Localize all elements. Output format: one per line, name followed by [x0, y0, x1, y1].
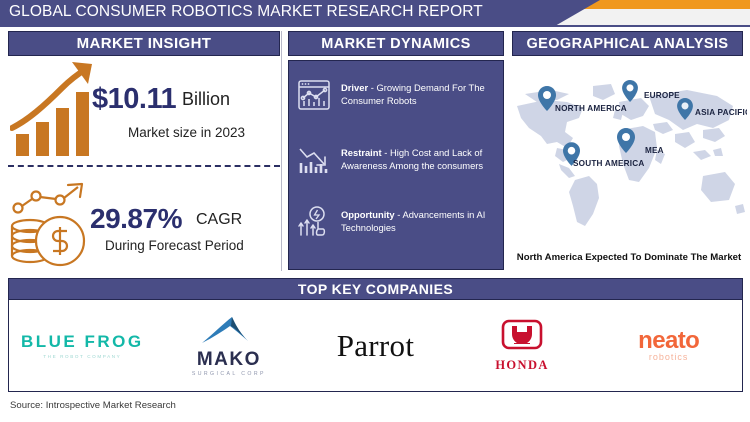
- dynamics-item-opportunity: Opportunity - Advancements in AI Technol…: [297, 205, 497, 244]
- geographical-analysis-panel: NORTH AMERICA EUROPE ASIA PACIFIC MEA SO…: [507, 58, 747, 270]
- dynamics-item-term: Restraint: [341, 147, 382, 158]
- company-logo-parrot: Parrot: [302, 300, 449, 391]
- company-logo-honda: HONDA: [449, 300, 596, 391]
- company-name: neato: [638, 329, 699, 353]
- dynamics-item-term: Opportunity: [341, 209, 395, 220]
- bar-chart-growth-icon: [10, 58, 98, 156]
- geo-label-europe: EUROPE: [644, 91, 680, 100]
- map-pin-icon: [617, 128, 635, 153]
- market-insight-heading: MARKET INSIGHT: [8, 31, 280, 56]
- geo-label-mea: MEA: [645, 146, 664, 155]
- top-key-companies-panel: BLUE FROG THE ROBOT COMPANY MAKO SURGICA…: [8, 300, 743, 392]
- top-key-companies-heading: TOP KEY COMPANIES: [8, 278, 743, 300]
- geo-footer-note: North America Expected To Dominate The M…: [509, 252, 749, 263]
- market-dynamics-heading: MARKET DYNAMICS: [288, 31, 504, 56]
- company-name: BLUE FROG: [21, 332, 144, 352]
- cagr-label: CAGR: [196, 211, 242, 229]
- insight-panel-divider: [281, 31, 282, 271]
- company-logo-neato: neato robotics: [595, 300, 742, 391]
- market-size-unit: Billion: [182, 89, 230, 110]
- cagr-caption: During Forecast Period: [105, 238, 244, 253]
- market-size-value: $10.11: [92, 83, 176, 116]
- dynamics-item-text: Opportunity - Advancements in AI Technol…: [333, 205, 497, 234]
- insight-dashed-divider: [8, 165, 280, 167]
- dynamics-item-dash: -: [382, 147, 390, 158]
- honda-emblem-icon: [500, 319, 544, 351]
- geo-label-asia-pacific: ASIA PACIFIC: [695, 108, 747, 117]
- dynamics-item-driver: Driver - Growing Demand For The Consumer…: [297, 78, 497, 117]
- page-title: GLOBAL CONSUMER ROBOTICS MARKET RESEARCH…: [9, 3, 483, 21]
- dashboard-chart-icon: [297, 78, 333, 117]
- geo-label-north-america: NORTH AMERICA: [555, 104, 627, 113]
- infographic-page: GLOBAL CONSUMER ROBOTICS MARKET RESEARCH…: [0, 0, 750, 422]
- market-size-caption: Market size in 2023: [128, 125, 245, 140]
- header-underline: [0, 25, 750, 27]
- company-tagline: THE ROBOT COMPANY: [21, 354, 144, 359]
- dynamics-item-restraint: Restraint - High Cost and Lack of Awaren…: [297, 143, 497, 182]
- company-name: MAKO: [192, 350, 266, 370]
- geo-label-south-america: SOUTH AMERICA: [573, 159, 644, 168]
- company-name: Parrot: [337, 328, 415, 364]
- geographical-analysis-heading: GEOGRAPHICAL ANALYSIS: [512, 31, 743, 56]
- company-logo-blue-frog: BLUE FROG THE ROBOT COMPANY: [9, 300, 156, 391]
- company-name: HONDA: [495, 358, 549, 373]
- company-logo-mako: MAKO SURGICAL CORP: [156, 300, 303, 391]
- company-tagline: SURGICAL CORP: [192, 371, 266, 377]
- map-pin-icon: [622, 80, 638, 102]
- dynamics-item-text: Restraint - High Cost and Lack of Awaren…: [333, 143, 497, 172]
- dynamics-item-term: Driver: [341, 82, 368, 93]
- coins-dollar-growth-icon: [8, 182, 100, 268]
- dynamics-item-text: Driver - Growing Demand For The Consumer…: [333, 78, 497, 107]
- idea-hand-icon: [297, 205, 333, 244]
- source-note: Source: Introspective Market Research: [10, 400, 176, 411]
- map-pin-icon: [538, 86, 556, 111]
- map-pin-icon: [677, 98, 693, 120]
- declining-bars-icon: [297, 143, 333, 182]
- cagr-value: 29.87%: [90, 203, 182, 235]
- mako-chevron-icon: [198, 315, 260, 345]
